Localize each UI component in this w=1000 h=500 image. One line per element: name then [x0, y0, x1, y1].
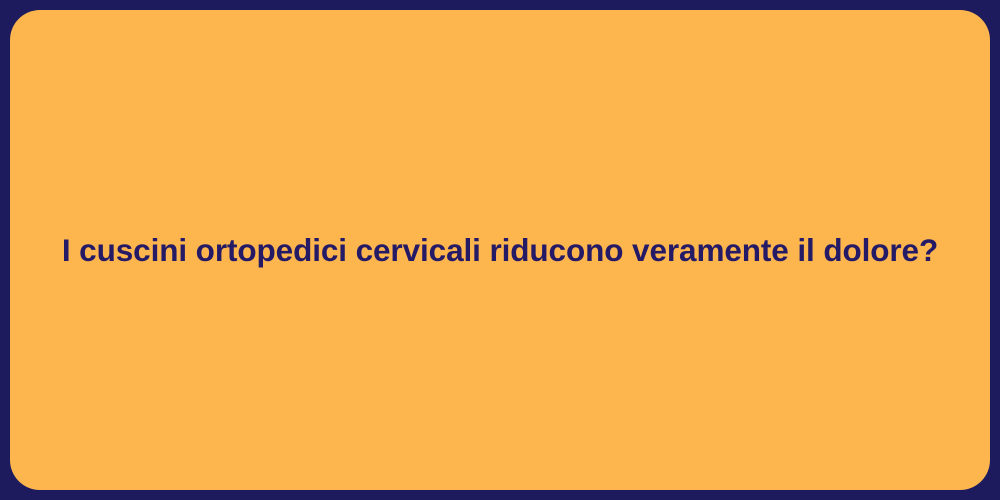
banner-card: I cuscini ortopedici cervicali riducono …: [10, 10, 990, 490]
headline-text: I cuscini ortopedici cervicali riducono …: [62, 229, 938, 272]
banner-frame: I cuscini ortopedici cervicali riducono …: [0, 0, 1000, 500]
